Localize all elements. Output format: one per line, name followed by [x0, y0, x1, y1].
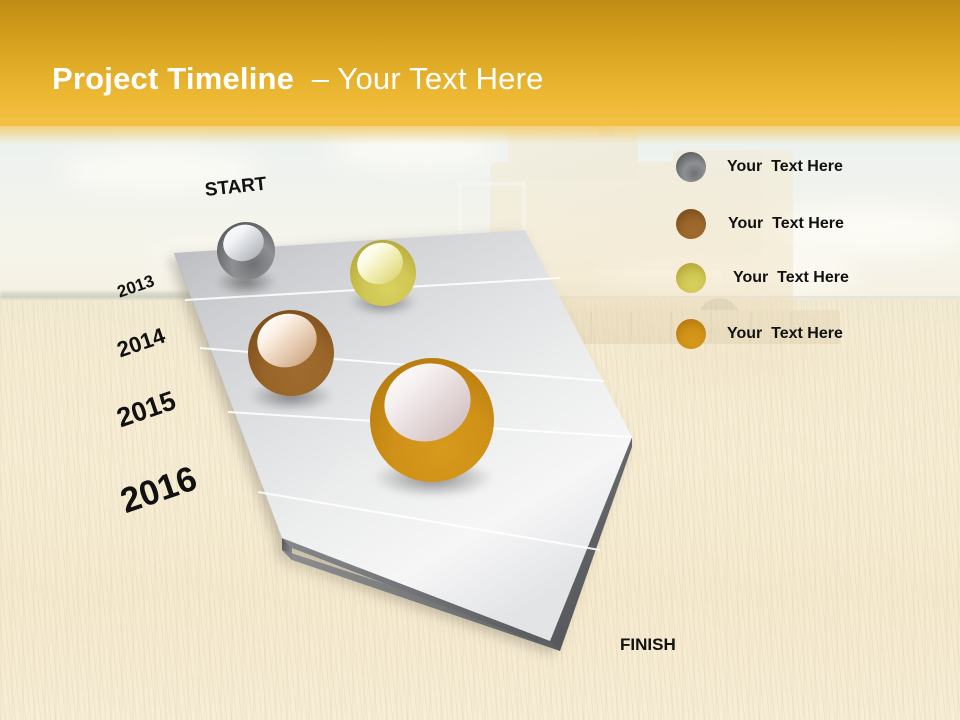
legend-item-1[interactable]: Your Text Here: [676, 152, 843, 182]
page-title-bold: Project Timeline: [52, 61, 294, 96]
legend-item-3[interactable]: Your Text Here: [676, 263, 849, 293]
milestone-sphere-2[interactable]: [350, 240, 416, 306]
milestone-sphere-3[interactable]: [248, 310, 334, 396]
legend-label-1: Your Text Here: [727, 158, 843, 176]
legend-bullet-yellow-icon: [676, 263, 706, 293]
legend-bullet-amber-icon: [676, 319, 706, 349]
legend-bullet-gray-icon: [676, 152, 706, 182]
legend-label-3: Your Text Here: [733, 269, 849, 287]
page-title-rest: – Your Text Here: [294, 61, 543, 96]
legend-label-2: Your Text Here: [728, 215, 844, 233]
legend-item-2[interactable]: Your Text Here: [676, 209, 844, 239]
title-band-fade: [0, 118, 960, 144]
legend-item-4[interactable]: Your Text Here: [676, 319, 843, 349]
milestone-sphere-1[interactable]: [217, 222, 275, 280]
legend-bullet-brown-icon: [676, 209, 706, 239]
legend-label-4: Your Text Here: [727, 325, 843, 343]
presentation-slide: Project Timeline – Your Text Here: [0, 0, 960, 720]
milestone-sphere-4[interactable]: [370, 358, 494, 482]
page-title: Project Timeline – Your Text Here: [52, 60, 544, 98]
finish-label: FINISH: [620, 635, 676, 655]
